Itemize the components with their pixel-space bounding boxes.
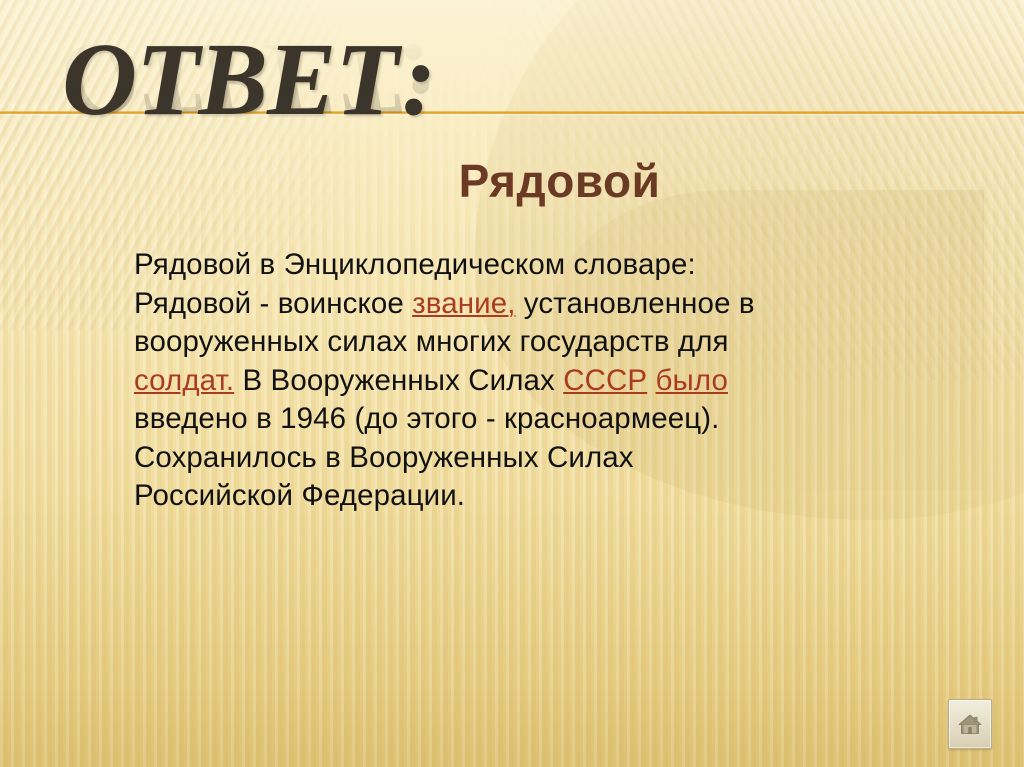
body-text-segment: установленное в: [516, 287, 755, 320]
body-hyperlink[interactable]: звание,: [412, 287, 515, 320]
presentation-slide: ОТВЕТ: ОТВЕТ: Рядовой Рядовой в Энциклоп…: [0, 0, 1024, 767]
home-icon: [957, 711, 983, 737]
body-line: введено в 1946 (до этого - красноармеец)…: [134, 400, 834, 439]
body-hyperlink[interactable]: СССР: [563, 364, 647, 397]
body-hyperlink[interactable]: было: [656, 364, 728, 397]
body-text-segment: Сохранилось в Вооруженных Силах: [134, 441, 634, 474]
page-title: ОТВЕТ:: [62, 28, 582, 132]
body-text-segment: Рядовой - воинское: [134, 287, 412, 320]
body-text-segment: Рядовой в Энциклопедическом словаре:: [134, 248, 696, 281]
body-text-segment: [647, 364, 655, 397]
body-line: Рядовой - воинское звание, установленное…: [134, 285, 834, 324]
body-text-segment: вооруженных силах многих государств для: [134, 325, 729, 358]
slide-body-text: Рядовой в Энциклопедическом словаре:Рядо…: [134, 246, 834, 516]
background-bottom-gradient: [0, 487, 1024, 767]
body-hyperlink[interactable]: солдат.: [134, 364, 234, 397]
body-text-segment: В Вооруженных Силах: [234, 364, 563, 397]
body-line: Сохранилось в Вооруженных Силах: [134, 439, 834, 478]
body-text-segment: введено в 1946 (до этого - красноармеец)…: [134, 402, 719, 435]
slide-subtitle: Рядовой: [0, 157, 1024, 205]
body-line: вооруженных силах многих государств для: [134, 323, 834, 362]
body-text-segment: Российской Федерации.: [134, 479, 465, 512]
body-line: Рядовой в Энциклопедическом словаре:: [134, 246, 834, 285]
body-line: солдат. В Вооруженных Силах СССР было: [134, 362, 834, 401]
home-button[interactable]: [948, 699, 992, 749]
body-line: Российской Федерации.: [134, 477, 834, 516]
